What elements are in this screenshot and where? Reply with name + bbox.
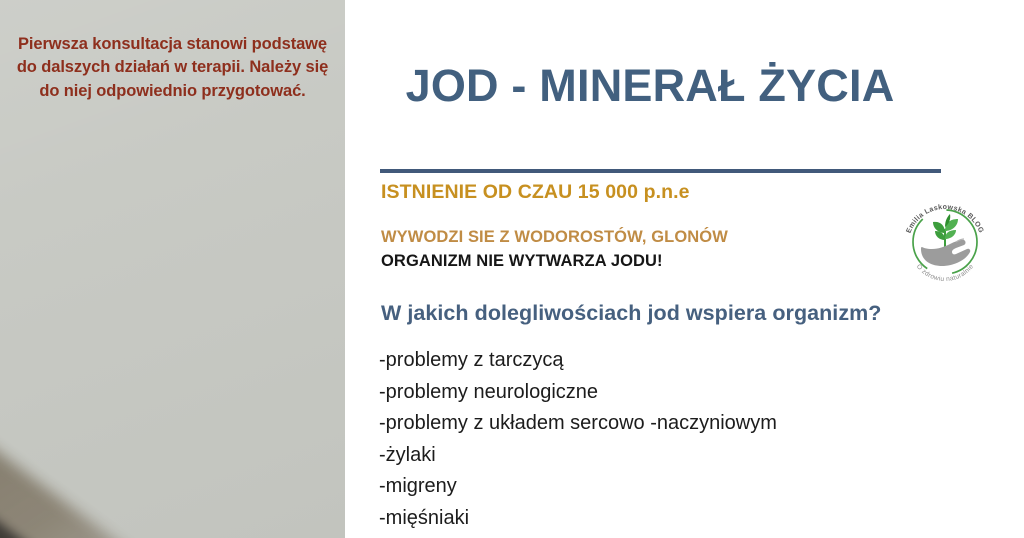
slide-title: JOD - MINERAŁ ŻYCIA — [345, 62, 955, 109]
list-item: -żylaki — [379, 440, 999, 472]
list-item: -problemy z układem sercowo -naczyniowym — [379, 408, 999, 440]
blurred-photo-white-band — [0, 484, 94, 538]
list-item: -mięśniaki — [379, 503, 999, 535]
content-area: JOD - MINERAŁ ŻYCIA ISTNIENIE OD CZAU 15… — [345, 0, 1024, 538]
left-panel: Pierwsza konsultacja stanowi podstawę do… — [0, 0, 345, 538]
blurred-photo-dark-band-lower — [0, 516, 68, 538]
blurred-photo-dark-band — [0, 470, 130, 538]
fact-wywodzi: WYWODZI SIE Z WODOROSTÓW, GLONÓW — [381, 228, 728, 247]
list-item: -problemy neurologiczne — [379, 377, 999, 409]
blog-logo: Emilia Laskowska BLOG O zdrowiu naturaln… — [894, 190, 996, 292]
list-item: -problemy z tarczycą — [379, 345, 999, 377]
left-panel-quote: Pierwsza konsultacja stanowi podstawę do… — [14, 33, 331, 103]
blurred-photo-olive-band — [0, 408, 180, 538]
section-question-heading: W jakich dolegliwościach jod wspiera org… — [381, 301, 881, 326]
title-divider-rule — [380, 169, 941, 173]
slide-canvas: Pierwsza konsultacja stanowi podstawę do… — [0, 0, 1024, 538]
blog-logo-graphic: Emilia Laskowska BLOG O zdrowiu naturaln… — [894, 190, 996, 292]
list-item: -migreny — [379, 471, 999, 503]
ailments-list: -problemy z tarczycą -problemy neurologi… — [379, 345, 999, 534]
fact-istnienie: ISTNIENIE OD CZAU 15 000 p.n.e — [381, 181, 690, 204]
fact-organizm: ORGANIZM NIE WYTWARZA JODU! — [381, 252, 663, 271]
